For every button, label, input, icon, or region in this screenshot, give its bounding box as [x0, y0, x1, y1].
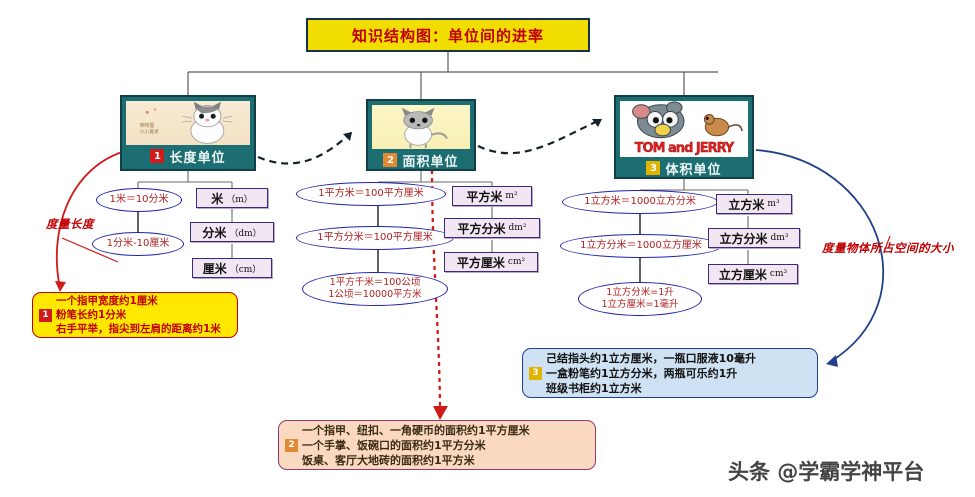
note-area-examples: 2 一个指甲、纽扣、一角硬币的面积约1平方厘米 一个手掌、饭碗口的面积约1平方分… [278, 420, 596, 470]
area-conversion-3: 1平方千米＝100公顷 1公顷＝10000平方米 [302, 272, 448, 306]
unit-box-cubic-centimeter: 立方厘米 cm³ [708, 264, 798, 284]
page-title: 知识结构图：单位间的进率 [306, 18, 590, 52]
unit-box-meter: 米 （m） [196, 188, 268, 208]
note-line: 粉笔长约1分米 [56, 308, 221, 322]
length-conversion-1: 1米＝10分米 [96, 188, 182, 212]
annotation-measure-volume: 度量物体所占空间的大小 [822, 240, 954, 256]
category-label-area: 面积单位 [402, 151, 458, 170]
note-line: 一盒粉笔约1立方分米，两瓶可乐约1升 [546, 366, 756, 381]
note-line: 饭桌、客厅大地砖的面积约1平方米 [302, 453, 530, 468]
length-conversion-2: 1分米-10厘米 [92, 232, 184, 256]
cat-illustration-icon [372, 105, 470, 149]
unit-box-square-decimeter: 平方分米 dm² [444, 218, 540, 238]
note-badge-2: 2 [285, 439, 298, 452]
knowledge-structure-diagram: 知识结构图：单位间的进率 咪咪猫 小小美术 1 长 [0, 0, 975, 497]
note-line: 右手平举，指尖到左肩的距离约1米 [56, 322, 221, 336]
unit-box-decimeter: 分米 （dm） [190, 222, 274, 242]
page-title-text: 知识结构图：单位间的进率 [352, 25, 544, 46]
area-conversion-1: 1平方米＝100平方厘米 [296, 182, 446, 206]
note-line: 一个指甲宽度约1厘米 [56, 294, 221, 308]
unit-box-square-meter: 平方米 m² [452, 186, 532, 206]
category-card-length[interactable]: 咪咪猫 小小美术 1 长度单位 [120, 95, 256, 171]
note-badge-1: 1 [39, 309, 52, 322]
volume-conversion-2: 1立方分米＝1000立方厘米 [560, 234, 722, 258]
note-volume-examples: 3 己结指头约1立方厘米，一瓶口服液10毫升 一盒粉笔约1立方分米，两瓶可乐约1… [522, 348, 818, 398]
unit-box-cubic-meter: 立方米 m³ [716, 194, 792, 214]
svg-text:小小美术: 小小美术 [140, 129, 159, 136]
unit-box-centimeter: 厘米 （cm） [192, 258, 272, 278]
area-conversion-2: 1平方分米＝100平方厘米 [296, 226, 454, 250]
cat-illustration-icon: 咪咪猫 小小美术 [126, 101, 250, 145]
svg-text:咪咪猫: 咪咪猫 [140, 122, 155, 129]
note-length-examples: 1 一个指甲宽度约1厘米 粉笔长约1分米 右手平举，指尖到左肩的距离约1米 [32, 292, 238, 338]
note-line: 班级书柜约1立方米 [546, 381, 756, 396]
unit-box-square-centimeter: 平方厘米 cm² [444, 252, 538, 272]
category-label-length: 长度单位 [169, 147, 225, 166]
category-badge-3: 3 [646, 161, 660, 175]
note-line: 一个指甲、纽扣、一角硬币的面积约1平方厘米 [302, 423, 530, 438]
category-card-volume[interactable]: TOM and JERRY 3 体积单位 [614, 95, 754, 179]
volume-conversion-1: 1立方米＝1000立方分米 [562, 190, 718, 214]
watermark: 头条 @学霸学神平台 [728, 456, 924, 486]
annotation-measure-length: 度量长度 [46, 216, 94, 232]
note-line: 一个手掌、饭碗口的面积约1平方分米 [302, 438, 530, 453]
category-card-area[interactable]: 2 面积单位 [366, 99, 476, 171]
note-badge-3: 3 [529, 367, 542, 380]
tom-and-jerry-logo-icon: TOM and JERRY [620, 101, 748, 157]
unit-box-cubic-decimeter: 立方分米 dm³ [708, 228, 800, 248]
category-label-volume: 体积单位 [665, 159, 721, 178]
note-line: 己结指头约1立方厘米，一瓶口服液10毫升 [546, 351, 756, 366]
category-badge-2: 2 [383, 153, 397, 167]
category-badge-1: 1 [150, 149, 164, 163]
tom-jerry-wordmark: TOM and JERRY [620, 141, 748, 156]
volume-conversion-3: 1立方分米=1升 1立方厘米=1毫升 [578, 282, 702, 316]
